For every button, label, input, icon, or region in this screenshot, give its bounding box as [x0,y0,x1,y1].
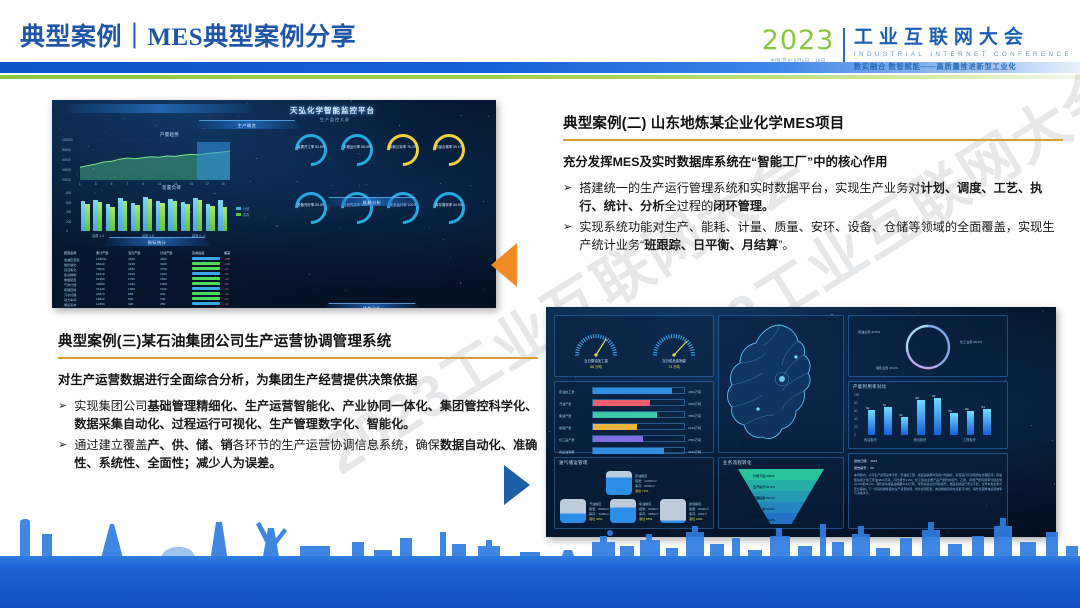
bar-value-label: 62 [866,406,869,410]
axis-tick-label: 80 [854,401,858,405]
bullet-marker-icon: ➢ [563,179,572,198]
table-cell: 1500 [160,282,167,286]
axis-tick-label: 40 [854,417,858,421]
bar-series-actual [148,199,153,231]
table-header-cell: 当日产量 [128,250,140,255]
star-dot [1029,473,1030,474]
funnel-stage [738,502,824,513]
dashboard-subtitle: 生产监控大屏 [320,117,350,123]
region-map-outline [724,321,838,447]
dash-section-tab: 能耗分析 [322,197,422,206]
logo-name-en: INDUSTRIAL INTERNET CONFERENCE [854,51,1072,58]
case-three-block: 典型案例(三)某石油集团公司生产运营协调管理系统 对生产运营数据进行全面综合分析… [58,330,538,475]
gauge-dial [648,329,700,381]
panel-capacity-title: 产能利用率对比 [853,384,887,390]
star-dot [296,181,297,182]
bar-capacity [868,410,875,435]
table-progress-bar [192,287,220,290]
dash-section-tab: 趋势分析 [322,303,422,308]
bullet-text: 搭建统一的生产运行管理系统和实时数据平台，实现生产业务对计划、调度、工艺、执行、… [579,179,1063,216]
bullet-item: ➢实现集团公司基础管理精细化、生产运营智能化、产业协同一体化、集团管控科学化、数… [58,397,538,434]
bullet-span: 搭建统一的生产运行管理系统和实时数据平台，实现生产业务对 [579,181,920,195]
table-cell: 1080 [128,287,135,291]
table-cell: 860 [128,292,133,296]
axis-tick-label: 储运板块 [914,437,927,442]
gauge-value-label: 平稳运行率 88.4% [337,145,377,150]
star-dot [460,115,461,116]
logo-divider [843,28,844,62]
star-dot [309,274,310,275]
table-cell: 18630 [96,297,105,301]
axis-tick-label: 3 [95,182,97,186]
funnel-stage [738,480,824,491]
bar-value-label: 64 [981,405,984,409]
hbar-value-label: 3580万吨 [688,413,701,418]
table-cell: 3210 [128,262,135,266]
star-dot [340,227,341,228]
bullet-item: ➢搭建统一的生产运行管理系统和实时数据平台，实现生产业务对计划、调度、工艺、执行… [563,179,1063,216]
star-dot [256,158,257,159]
gauge-value-label: 装置开工率 92.6% [291,145,331,150]
gauge-dial [570,329,622,381]
bullet-marker-icon: ➢ [563,218,572,237]
table-cell: 1100 [160,287,167,291]
page-title: 典型案例｜MES典型案例分享 [20,17,356,53]
legend-swatch [236,207,241,210]
slide-root: 典型案例｜MES典型案例分享 2023 中国·苏州 8月1日 - 19日 工业互… [0,0,1080,608]
donut-legend-label: 化工业务 28.3% [960,339,982,344]
blue-pointer-arrow [504,465,530,505]
case-two-divider [563,139,1063,141]
table-cell: -40 [224,277,228,281]
gauge-value-label: 质量合格率 99.1% [429,145,469,150]
case-three-bullets: ➢实现集团公司基础管理精细化、生产运营智能化、产业协同一体化、集团管控科学化、数… [58,397,538,473]
dash-section-tab: 生产概览 [192,120,302,129]
bullet-marker-icon: ➢ [58,397,67,416]
bullet-span: 各环节的生产运营协调信息系统，确保 [233,438,440,452]
star-dot [549,431,550,432]
star-dot [1054,483,1055,484]
case-three-lead: 对生产运营数据进行全面综合分析，为集团生产经营提供决策依据 [58,370,538,388]
header-rule-green [0,75,1080,79]
star-dot [377,194,378,195]
bar-capacity [950,413,957,435]
hbar-category-label: 柴油产量 [559,413,571,418]
bullet-item: ➢通过建立覆盖产、供、储、销各环节的生产运营协调信息系统，确保数据自动化、准确性… [58,436,538,473]
table-cell: -280 [224,257,230,261]
table-progress-bar [192,267,220,270]
table-cell: 125630 [96,257,106,261]
table-cell: 31240 [96,287,105,291]
star-dot [189,134,190,135]
axis-tick-label: 9 [142,182,144,186]
bullet-span: 全过程的 [665,199,714,213]
axis-tick-label: 1 [79,182,81,186]
star-dot [238,116,239,117]
star-dot [450,257,451,258]
hbar-value-label: 2650万吨 [688,437,701,442]
bar-capacity [901,417,908,435]
bullet-emphasis: 减少人为误差。 [196,456,281,470]
bar-value-label: 44 [899,413,902,417]
table-header-cell: 完成进度 [192,250,204,255]
star-dot [443,239,444,240]
star-dot [276,225,277,226]
table-cell: 640 [128,297,133,301]
star-dot [225,145,226,146]
bullet-text: 实现系统功能对生产、能耗、计量、质量、安环、设备、仓储等领域的全面覆盖，实现生产… [579,218,1063,255]
star-dot [247,103,248,104]
hbar-fill [593,412,657,418]
table-header-cell: 装置名称 [64,250,76,255]
star-dot [78,189,79,190]
table-cell: -40 [224,292,228,296]
table-cell: -50 [224,272,228,276]
bullet-emphasis: 产、供、储、销 [147,438,232,452]
star-dot [214,193,215,194]
donut-legend-label: 炼油业务 42.5% [858,329,880,334]
star-dot [88,146,89,147]
bar-capacity [917,400,924,435]
axis-tick-label: 17 [205,182,209,186]
logo-name-block: 工业互联网大会 INDUSTRIAL INTERNET CONFERENCE 数… [854,26,1072,72]
table-header-cell: 计划产量 [160,250,172,255]
axis-tick-label: 100000 [62,138,73,142]
axis-tick-label: 100 [854,393,859,397]
star-dot [483,289,484,290]
table-cell: -20 [224,267,228,271]
table-cell: 24870 [96,292,105,296]
axis-tick-label: 20000 [62,178,71,182]
star-dot [105,131,106,132]
table-cell: 4800 [160,257,167,261]
axis-tick-label: 40000 [62,168,71,172]
legend-label: 计划 [243,206,249,211]
bar-series-actual [210,206,215,231]
funnel-stage-label: 计划下达 100% [753,473,774,478]
table-cell: -30 [224,302,228,306]
table-progress-bar [192,277,220,280]
table-cell: 储运系统 [64,302,76,307]
hbar-category-label: 航煤产量 [559,425,571,430]
report-no: 报告编号： 08 [854,465,874,470]
hbar-fill [593,448,665,454]
bullet-span: ”。 [778,238,794,252]
gauge-value-label: 库存周转率 84.5% [429,203,469,208]
bar-series-actual [110,207,115,231]
bar-value-label: 88 [915,396,918,400]
bar-series-actual [160,203,165,231]
star-dot [552,470,553,471]
logo-year-sub: 中国·苏州 8月1日 - 19日 [762,58,835,64]
bullet-emphasis: 闭环管理。 [713,199,774,213]
table-progress-bar [192,292,220,295]
funnel-stage [738,469,824,480]
bar-series-actual [98,202,103,231]
bar-capacity [983,409,990,435]
star-dot [250,181,251,182]
axis-tick-label: 装置 1-4 [92,233,104,238]
axis-tick-label: 400 [66,210,71,214]
bullet-marker-icon: ➢ [58,436,67,455]
table-cell: -60 [224,297,228,301]
footer-band [0,556,1080,608]
axis-tick-label: 炼油板块 [864,437,877,442]
logo-year-block: 2023 中国·苏州 8月1日 - 19日 [762,26,835,64]
star-dot [399,125,400,126]
table-cell: 700 [160,297,165,301]
axis-tick-label: 11 [158,182,161,186]
bar-capacity [884,407,891,435]
tank-indicator [606,471,632,495]
star-dot [350,100,351,101]
star-dot [179,205,180,206]
bar-series-actual [123,201,128,231]
bar-series-actual [135,205,140,231]
axis-tick-label: 80000 [62,148,71,152]
hbar-fill [593,388,672,394]
case-three-divider [58,357,538,359]
table-progress-bar [192,297,220,300]
hbar-fill [593,400,650,406]
star-dot [155,125,156,126]
star-dot [331,185,332,186]
gauge-caption: 当日成品油销量 [646,359,702,364]
hbar-value-label: 3160万吨 [688,401,701,406]
axis-tick-label: 20 [854,425,858,429]
bar-value-label: 70 [882,403,885,407]
star-dot [114,177,115,178]
star-dot [317,288,318,289]
panel-funnel-title: 业务流程转化 [723,460,752,466]
axis-tick-label: 0 [854,433,856,437]
star-dot [366,184,367,185]
chart-title-bars: 装置负荷 [162,185,181,191]
star-dot [1031,425,1032,426]
gauge-value: 74 万吨 [646,365,702,370]
bar-series-actual [85,204,90,231]
star-dot [147,303,148,304]
case-two-title: 典型案例(二) 山东地炼某企业化学MES项目 [563,112,1063,133]
bar-series-actual [185,204,190,231]
bar-value-label: 56 [948,409,951,413]
hbar-value-label: 4120万吨 [688,449,701,454]
hbar-fill [593,424,637,430]
logo-name-cn: 工业互联网大会 [854,28,1072,47]
donut-legend-label: 销售业务 29.2% [876,365,898,370]
star-dot [1037,339,1038,340]
bar-capacity [967,411,974,435]
table-progress-bar [192,282,220,285]
case-three-title: 典型案例(三)某石油集团公司生产运营协调管理系统 [58,330,538,351]
case-two-bullets: ➢搭建统一的生产运行管理系统和实时数据平台，实现生产业务对计划、调度、工艺、执行… [563,179,1063,255]
logo-slogan: 数实融合 数智赋能——高质量推进新型工业化 [854,61,1072,72]
table-cell: 12450 [96,302,105,306]
legend-label: 实际 [243,212,249,217]
dash-section-tab: 指标统计 [102,237,212,246]
axis-tick-label: 60 [854,409,858,413]
funnel-stage-label: 生产执行 92.4% [753,484,775,489]
table-cell: 2700 [160,267,167,271]
star-dot [460,282,461,283]
axis-tick-label: 19 [221,182,225,186]
star-dot [1052,440,1053,441]
dash-top-left-band [60,104,260,113]
funnel-stage [738,491,824,502]
bar-series-actual [223,207,228,231]
table-cell: 2150 [128,272,135,276]
bullet-text: 实现集团公司基础管理精细化、生产运营智能化、产业协同一体化、集团管控科学化、数据… [74,397,538,434]
table-progress-bar [192,302,220,305]
panel-storage-title: 油气储运管理 [559,460,588,466]
star-dot [918,312,919,313]
star-dot [398,181,399,182]
axis-tick-label: 60000 [62,158,71,162]
star-dot [70,308,71,309]
hbar-value-label: 2140万吨 [688,425,701,430]
table-cell: 1760 [128,277,135,281]
bullet-span: 实现集团公司 [74,399,147,413]
bullet-emphasis: 班跟踪、日平衡、月结算 [644,238,778,252]
axis-tick-label: 200 [66,220,71,224]
table-cell: 43960 [96,282,105,286]
case-two-block: 典型案例(二) 山东地炼某企业化学MES项目 充分发挥MES及实时数据库系统在“… [563,112,1063,257]
gauge-caption: 当日原油加工量 [568,359,624,364]
table-cell: 98240 [96,262,105,266]
bar-value-label: 92 [932,394,935,398]
table-progress-bar [192,257,220,260]
table-cell: 1800 [160,277,167,281]
star-dot [487,201,488,202]
bar-series-actual [173,201,178,231]
orange-pointer-arrow [491,243,517,287]
table-cell: 450 [160,302,165,306]
gauge-value: 68 万吨 [568,365,624,370]
legend-swatch [236,213,241,216]
table-cell: 4520 [128,257,135,261]
star-dot [883,378,884,379]
funnel-stage-label: 质量检验 88.1% [753,495,775,500]
chart-title-area: 产量趋势 [160,132,179,138]
axis-tick-label: 15 [190,182,194,186]
star-dot [1042,311,1043,312]
bar-value-label: 60 [965,407,968,411]
tank-status: 液位 72% [635,488,648,493]
table-cell: -190 [224,262,230,266]
conference-logo: 2023 中国·苏州 8月1日 - 19日 工业互联网大会 INDUSTRIAL… [762,26,1072,72]
bullet-span: 通过建立覆盖 [74,438,147,452]
case-two-lead: 充分发挥MES及实时数据库系统在“智能工厂”中的核心作用 [563,152,1063,170]
star-dot [488,116,489,117]
star-dot [94,192,95,193]
hbar-category-label: 成品油销量 [559,449,574,454]
table-cell: 420 [128,302,133,306]
axis-tick-label: 5 [111,182,113,186]
report-date: 报告日期： 2023 [854,458,877,463]
bullet-item: ➢实现系统功能对生产、能耗、计量、质量、安环、设备、仓储等领域的全面覆盖，实现生… [563,218,1063,255]
axis-tick-label: 7 [126,182,128,186]
hbar-category-label: 原油加工量 [559,389,574,394]
star-dot [470,227,471,228]
gauge-value-label: 能耗达标率 76.2% [383,145,423,150]
star-dot [264,217,265,218]
axis-tick-label: 600 [66,201,71,205]
hbar-value-label: 4820万吨 [688,389,701,394]
table-cell: 1420 [128,282,135,286]
hbar-category-label: 汽油产量 [559,401,571,406]
hbar-fill [593,436,644,442]
funnel-stage-label: 仓储入库 83.6% [753,506,775,511]
table-cell: 64310 [96,272,105,276]
bar-capacity [934,398,941,435]
bullet-text: 通过建立覆盖产、供、储、销各环节的生产运营协调信息系统，确保数据自动化、准确性、… [74,436,538,473]
bar-series-actual [198,200,203,231]
table-cell: 3400 [160,262,167,266]
table-header-cell: 累计产量 [96,250,108,255]
dashboard-image-top: 天弘化学智能监控平台 生产监控大屏 生产概览产量趋势 1000008000060… [52,100,496,308]
table-cell: -20 [224,287,228,291]
dashboard-title: 天弘化学智能监控平台 [290,105,375,116]
table-cell: 900 [160,292,165,296]
axis-tick-label: 0 [66,229,68,233]
star-dot [76,174,77,175]
logo-year: 2023 [762,27,835,54]
axis-tick-label: 800 [66,191,71,195]
axis-tick-label: 工程板块 [963,437,976,442]
table-cell: 2680 [128,267,135,271]
star-dot [440,183,441,184]
hbar-category-label: 化工品产量 [559,437,574,442]
table-cell: 2200 [160,272,167,276]
table-progress-bar [192,262,220,265]
table-progress-bar [192,272,220,275]
table-header-cell: 偏差 [224,250,230,255]
table-cell: -80 [224,282,228,286]
table-cell: 76520 [96,267,105,271]
star-dot [778,310,779,311]
table-cell: 52180 [96,277,105,281]
star-dot [432,200,433,201]
donut-chart [902,321,954,373]
dashboard-image-bottom: 当日原油加工量68 万吨 当日成品油销量74 万吨原油加工量4820万吨汽油产量… [546,307,1056,537]
